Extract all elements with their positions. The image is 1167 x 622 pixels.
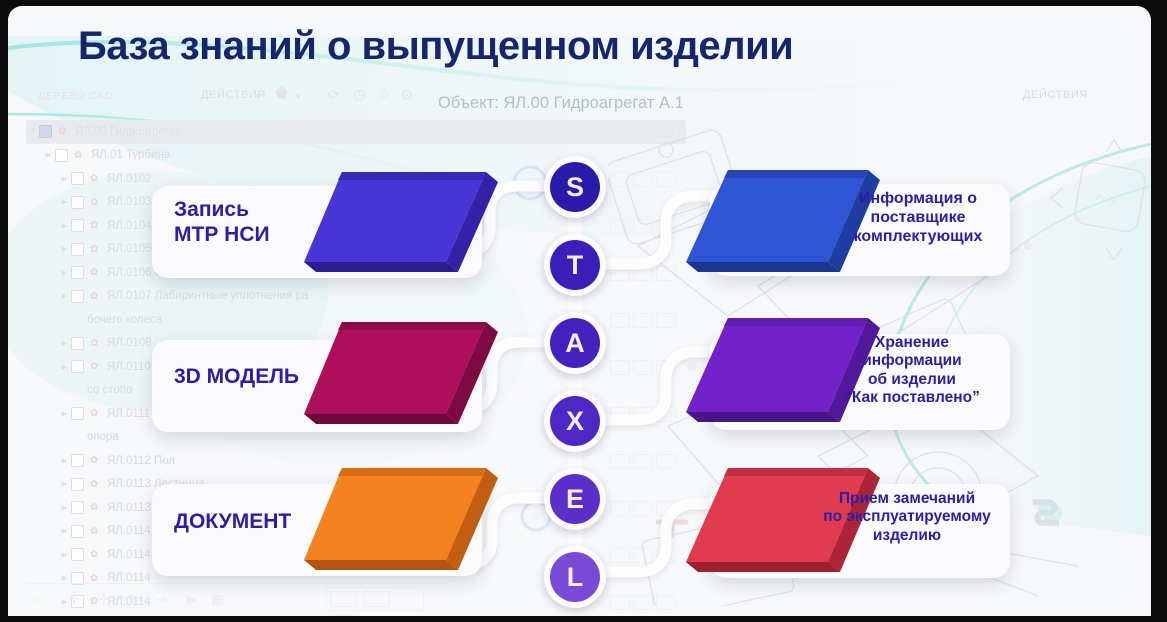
card-mtr-nsi[interactable]: Запись МТР НСИ xyxy=(146,164,506,294)
card-label: ДОКУМЕНТ xyxy=(174,510,424,535)
card-label: Хранение информации об изделии “Как пост… xyxy=(808,334,1016,407)
card-label: Запись МТР НСИ xyxy=(174,198,394,248)
card-label: Информация о поставщике комплектующих xyxy=(820,190,1016,247)
chain-node-l[interactable]: L xyxy=(544,546,606,608)
slide-stage: PgUp ДЕРЕВО CAD Действия ▾ ⬟ ▾ ⟳ ◷ ☆ ⊙ Д… xyxy=(8,6,1151,616)
staxel-chain: STAXEL xyxy=(544,156,610,596)
chain-node-letter: T xyxy=(550,240,600,290)
card-label: Прием замечаний по эксплуатируемому изде… xyxy=(798,490,1016,545)
chain-node-letter: L xyxy=(550,552,600,602)
chain-node-letter: S xyxy=(550,162,600,212)
card-label: 3D МОДЕЛЬ xyxy=(174,365,424,390)
chain-node-t[interactable]: T xyxy=(544,234,606,296)
chain-node-letter: X xyxy=(550,396,600,446)
outer-frame: PgUp ДЕРЕВО CAD Действия ▾ ⬟ ▾ ⟳ ◷ ☆ ⊙ Д… xyxy=(0,0,1167,622)
page-title: База знаний о выпущенном изделии xyxy=(78,24,1078,69)
chain-node-e[interactable]: E xyxy=(544,468,606,530)
chain-node-letter: E xyxy=(550,474,600,524)
chain-node-s[interactable]: S xyxy=(544,156,606,218)
card-supplier-info[interactable]: Информация о поставщике комплектующих xyxy=(668,162,1028,296)
card-as-delivered[interactable]: Хранение информации об изделии “Как пост… xyxy=(668,312,1028,448)
card-3d-model[interactable]: 3D МОДЕЛЬ xyxy=(146,318,506,448)
chain-node-a[interactable]: A xyxy=(544,312,606,374)
object-subtitle: Объект: ЯЛ.00 Гидроагрегат А.1 xyxy=(438,94,684,113)
chain-node-letter: A xyxy=(550,318,600,368)
card-feedback[interactable]: Прием замечаний по эксплуатируемому изде… xyxy=(668,462,1028,598)
card-document[interactable]: ДОКУМЕНТ xyxy=(146,462,506,598)
chain-node-x[interactable]: X xyxy=(544,390,606,452)
